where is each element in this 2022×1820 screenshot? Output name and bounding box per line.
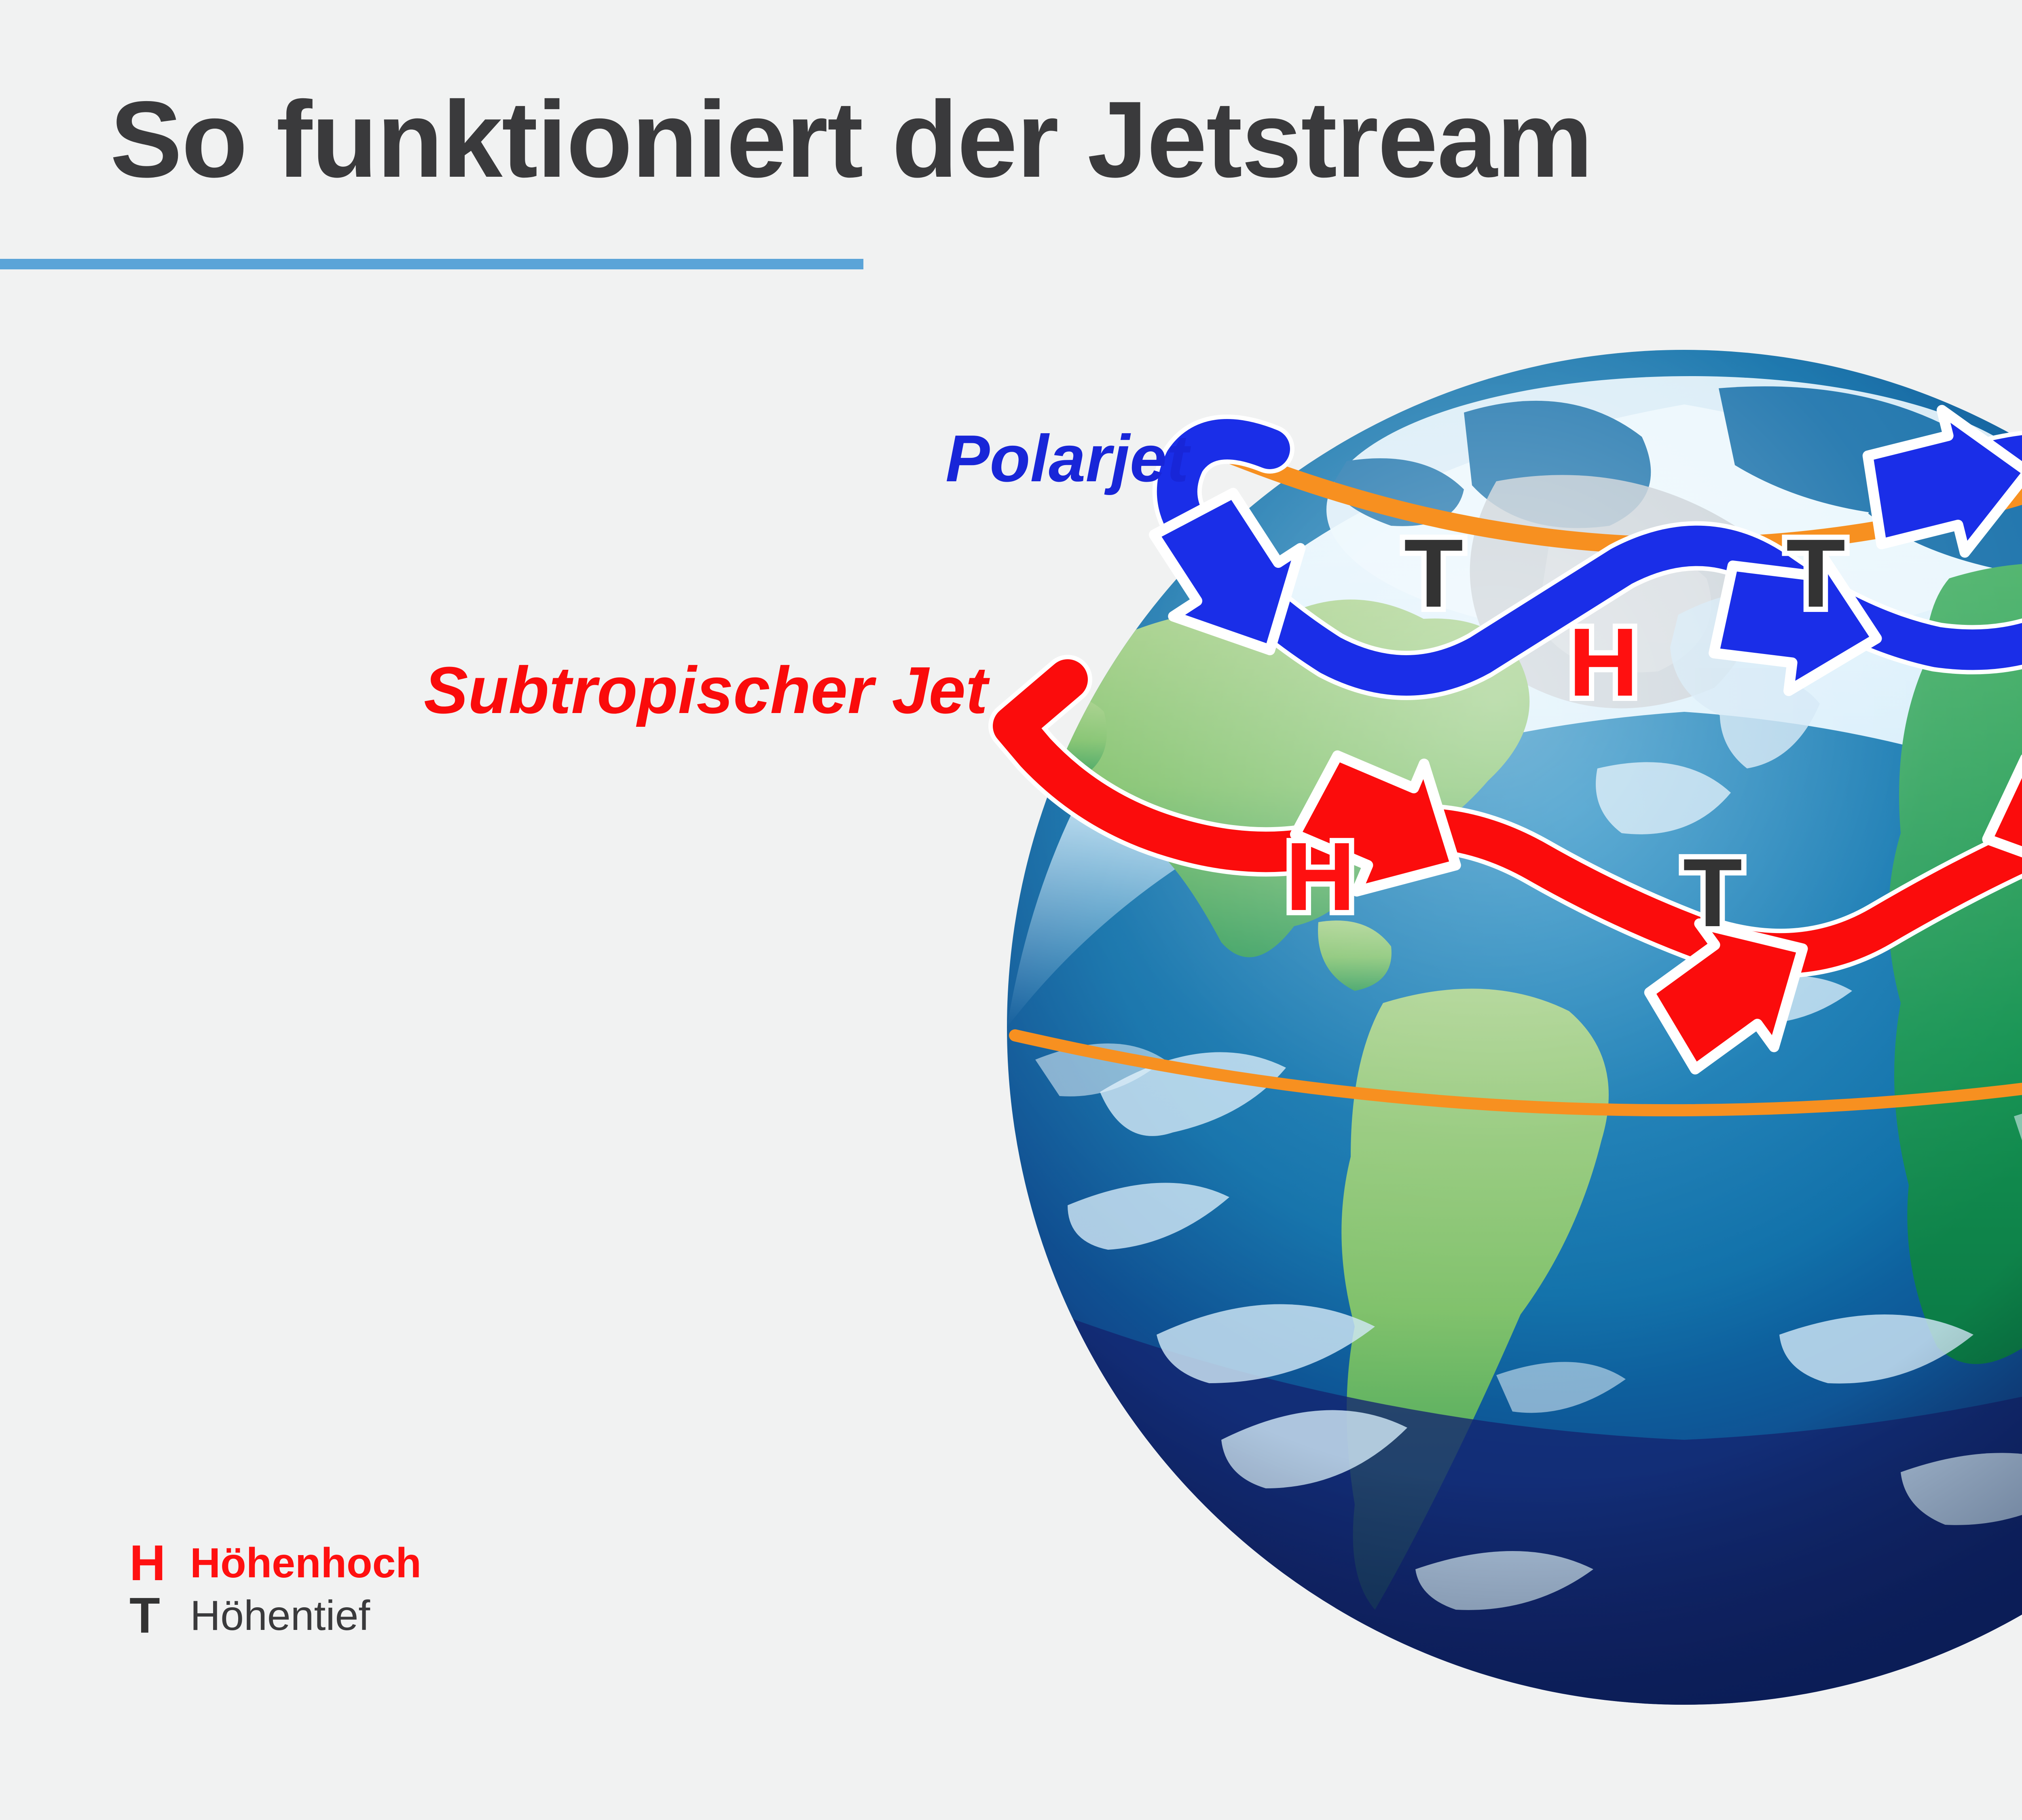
marker-high-1: H: [1568, 608, 1638, 716]
globe: [1007, 350, 2022, 1711]
marker-high-2: H: [1285, 822, 1355, 931]
legend-symbol-high: H: [129, 1538, 190, 1588]
marker-low-2: T: [1786, 519, 1846, 627]
polarjet-label: Polarjet: [945, 425, 1189, 492]
subtropischer-jet-label: Subtropischer Jet: [424, 657, 988, 724]
legend-label-high: Höhenhoch: [190, 1542, 421, 1584]
globe-surface-features: [1007, 350, 2022, 1711]
marker-low-1: T: [1404, 519, 1464, 627]
legend-symbol-low: T: [129, 1591, 190, 1641]
legend-item-high: H Höhenhoch: [129, 1537, 421, 1589]
globe-limb-shading: [1007, 350, 2022, 1705]
infographic-canvas: So funktioniert der Jetstream TheWeather…: [0, 0, 2022, 1820]
legend: H Höhenhoch T Höhentief: [129, 1537, 421, 1642]
legend-item-low: T Höhentief: [129, 1589, 421, 1642]
marker-low-3: T: [1683, 838, 1743, 947]
legend-label-low: Höhentief: [190, 1595, 370, 1637]
